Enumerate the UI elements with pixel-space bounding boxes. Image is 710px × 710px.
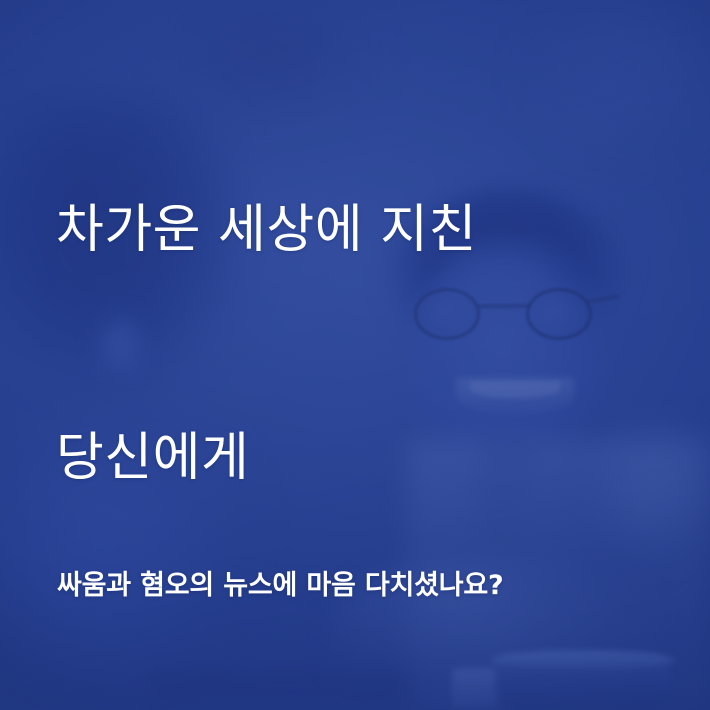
- card-content: 차가운 세상에 지친 당신에게 싸움과 혐오의 뉴스에 마음 다치셨나요? 서로…: [0, 0, 710, 710]
- body-copy: 싸움과 혐오의 뉴스에 마음 다치셨나요? 서로를 향한 공감과 배려로 세상은…: [57, 466, 504, 710]
- promotional-card: 차가운 세상에 지친 당신에게 싸움과 혐오의 뉴스에 마음 다치셨나요? 서로…: [0, 0, 710, 710]
- headline-line-1: 차가운 세상에 지친: [56, 192, 477, 268]
- body-line-1: 싸움과 혐오의 뉴스에 마음 다치셨나요?: [57, 562, 504, 610]
- body-line-2: 서로를 향한 공감과 배려로: [57, 706, 504, 710]
